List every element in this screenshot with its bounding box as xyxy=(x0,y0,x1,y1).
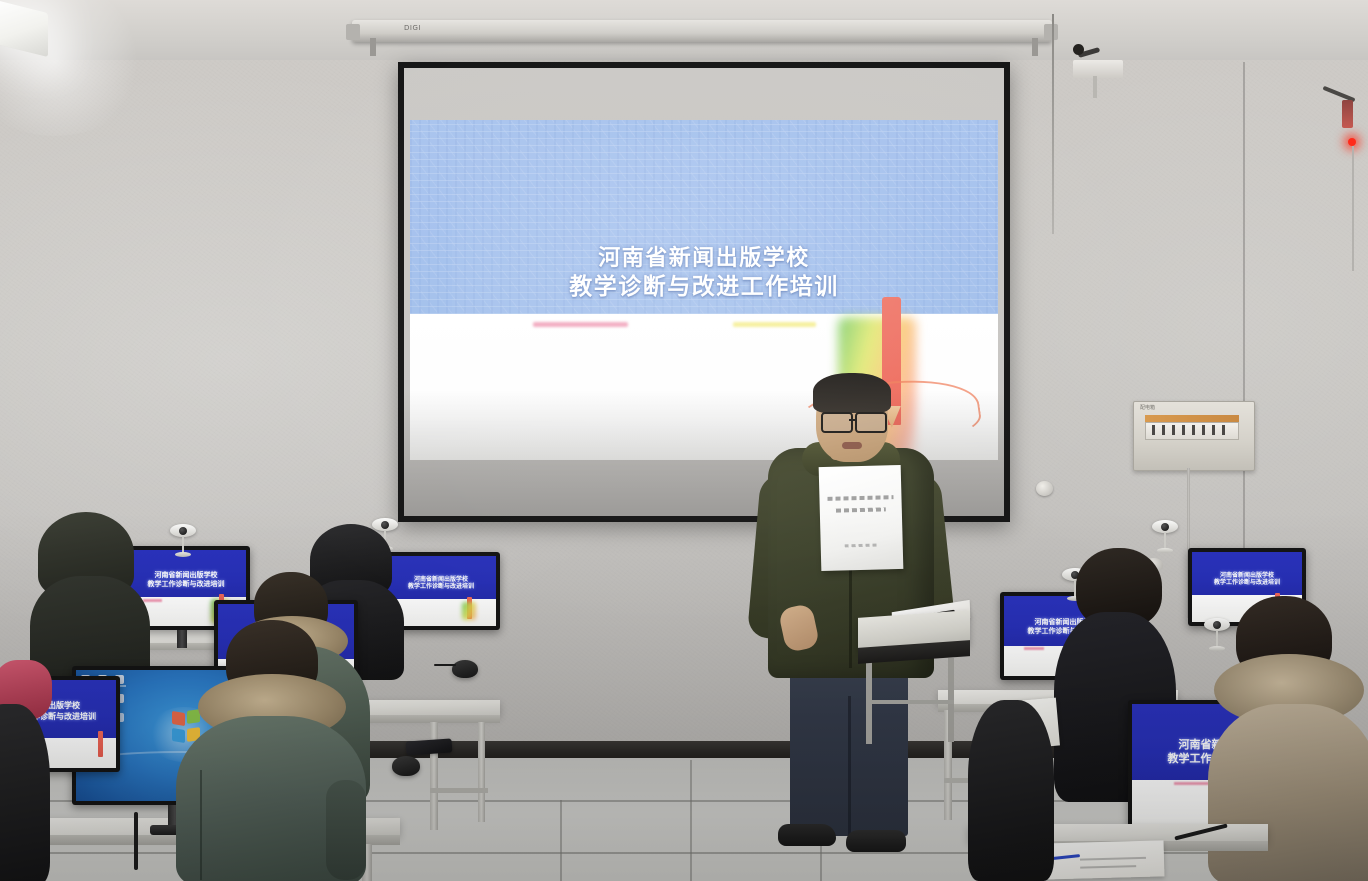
coat-seam xyxy=(200,770,202,880)
presenter-shoe xyxy=(778,824,836,846)
panel-label: 配电箱 xyxy=(1140,404,1155,411)
slide-accent-pink xyxy=(1024,647,1044,650)
projection-screen-roller[interactable] xyxy=(352,20,1052,42)
breaker-switch[interactable] xyxy=(1192,425,1195,435)
attendee xyxy=(968,700,1054,881)
attendee xyxy=(176,620,366,881)
roller-end-cap xyxy=(346,24,360,40)
slide-rainbow-graphic xyxy=(462,602,476,620)
breaker-switch[interactable] xyxy=(1182,425,1185,435)
breaker-switch[interactable] xyxy=(1212,425,1215,435)
mouse-cable xyxy=(434,664,456,666)
slide-pencil-icon xyxy=(98,731,103,757)
glasses-icon xyxy=(855,412,887,433)
webcam-lens-icon xyxy=(179,527,187,535)
slide-title: 河南省新闻出版学校 教学诊断与改进工作培训 xyxy=(410,246,998,301)
security-camera-mount xyxy=(1073,60,1123,78)
security-camera-icon xyxy=(1073,44,1084,55)
floor-tile-line xyxy=(690,760,692,881)
desk-leg xyxy=(430,722,438,830)
attendee-torso xyxy=(968,700,1054,881)
handout-text-line xyxy=(836,507,886,512)
breaker-switch[interactable] xyxy=(1202,425,1205,435)
breaker-switch[interactable] xyxy=(1162,425,1165,435)
podium-rail xyxy=(866,700,954,704)
slide-title-line2: 教学诊断与改进工作培训 xyxy=(410,273,998,301)
computer-mouse[interactable] xyxy=(392,756,420,776)
roller-bracket xyxy=(1032,38,1038,56)
alarm-conduit xyxy=(1352,146,1354,271)
power-cable xyxy=(134,812,138,870)
open-notebook[interactable] xyxy=(1040,840,1165,879)
notebook-line xyxy=(1080,857,1146,861)
screen-pull-cord[interactable] xyxy=(1052,14,1054,234)
presenter-leg-seam xyxy=(848,696,851,836)
presenter-shoe xyxy=(846,830,906,852)
attendee xyxy=(0,660,50,881)
alarm-device xyxy=(1342,100,1353,128)
security-camera-post xyxy=(1093,76,1097,98)
roller-brand-label: DIGI xyxy=(404,24,421,32)
monitor-slide-line2: 教学工作诊断与改进培训 xyxy=(1192,579,1302,587)
wall-speaker-icon xyxy=(1036,481,1053,496)
attendee-torso xyxy=(1208,704,1368,881)
breaker-switch[interactable] xyxy=(1222,425,1225,435)
handout-text-line xyxy=(845,544,879,548)
panel-bar xyxy=(1145,415,1239,422)
presenter-mouth xyxy=(842,442,862,449)
webcam-lens-icon xyxy=(1161,523,1169,531)
attendee-torso xyxy=(0,704,50,881)
breaker-switch[interactable] xyxy=(1172,425,1175,435)
slide-title-line1: 河南省新闻出版学校 xyxy=(410,246,998,273)
webcam-foot xyxy=(175,552,191,557)
attendee-arm xyxy=(326,780,366,880)
computer-mouse[interactable] xyxy=(452,660,478,678)
handout-text-line xyxy=(827,495,893,501)
roller-end-cap xyxy=(1044,24,1058,40)
presenter-hair xyxy=(813,373,891,413)
presenter-handout xyxy=(819,465,904,571)
slide-accent-yellow xyxy=(733,322,815,327)
slide-accent-pink xyxy=(1174,782,1209,785)
glasses-bridge xyxy=(849,419,857,421)
notebook-line xyxy=(1080,865,1136,868)
breaker-switch[interactable] xyxy=(1152,425,1155,435)
monitor-slide-title: 河南省新闻出版学校 教学工作诊断与改进培训 xyxy=(1192,572,1302,588)
roller-bracket xyxy=(370,38,376,56)
floor-tile-line xyxy=(560,800,562,881)
slide-accent-pink xyxy=(533,322,627,327)
classroom-photo: DIGI 河南省新闻出版学校 教学诊断与改进工作培训 xyxy=(0,0,1368,881)
alarm-led-icon xyxy=(1348,138,1356,146)
glasses-icon xyxy=(821,412,853,433)
desk-leg xyxy=(478,722,485,822)
desk-rail xyxy=(430,788,488,793)
